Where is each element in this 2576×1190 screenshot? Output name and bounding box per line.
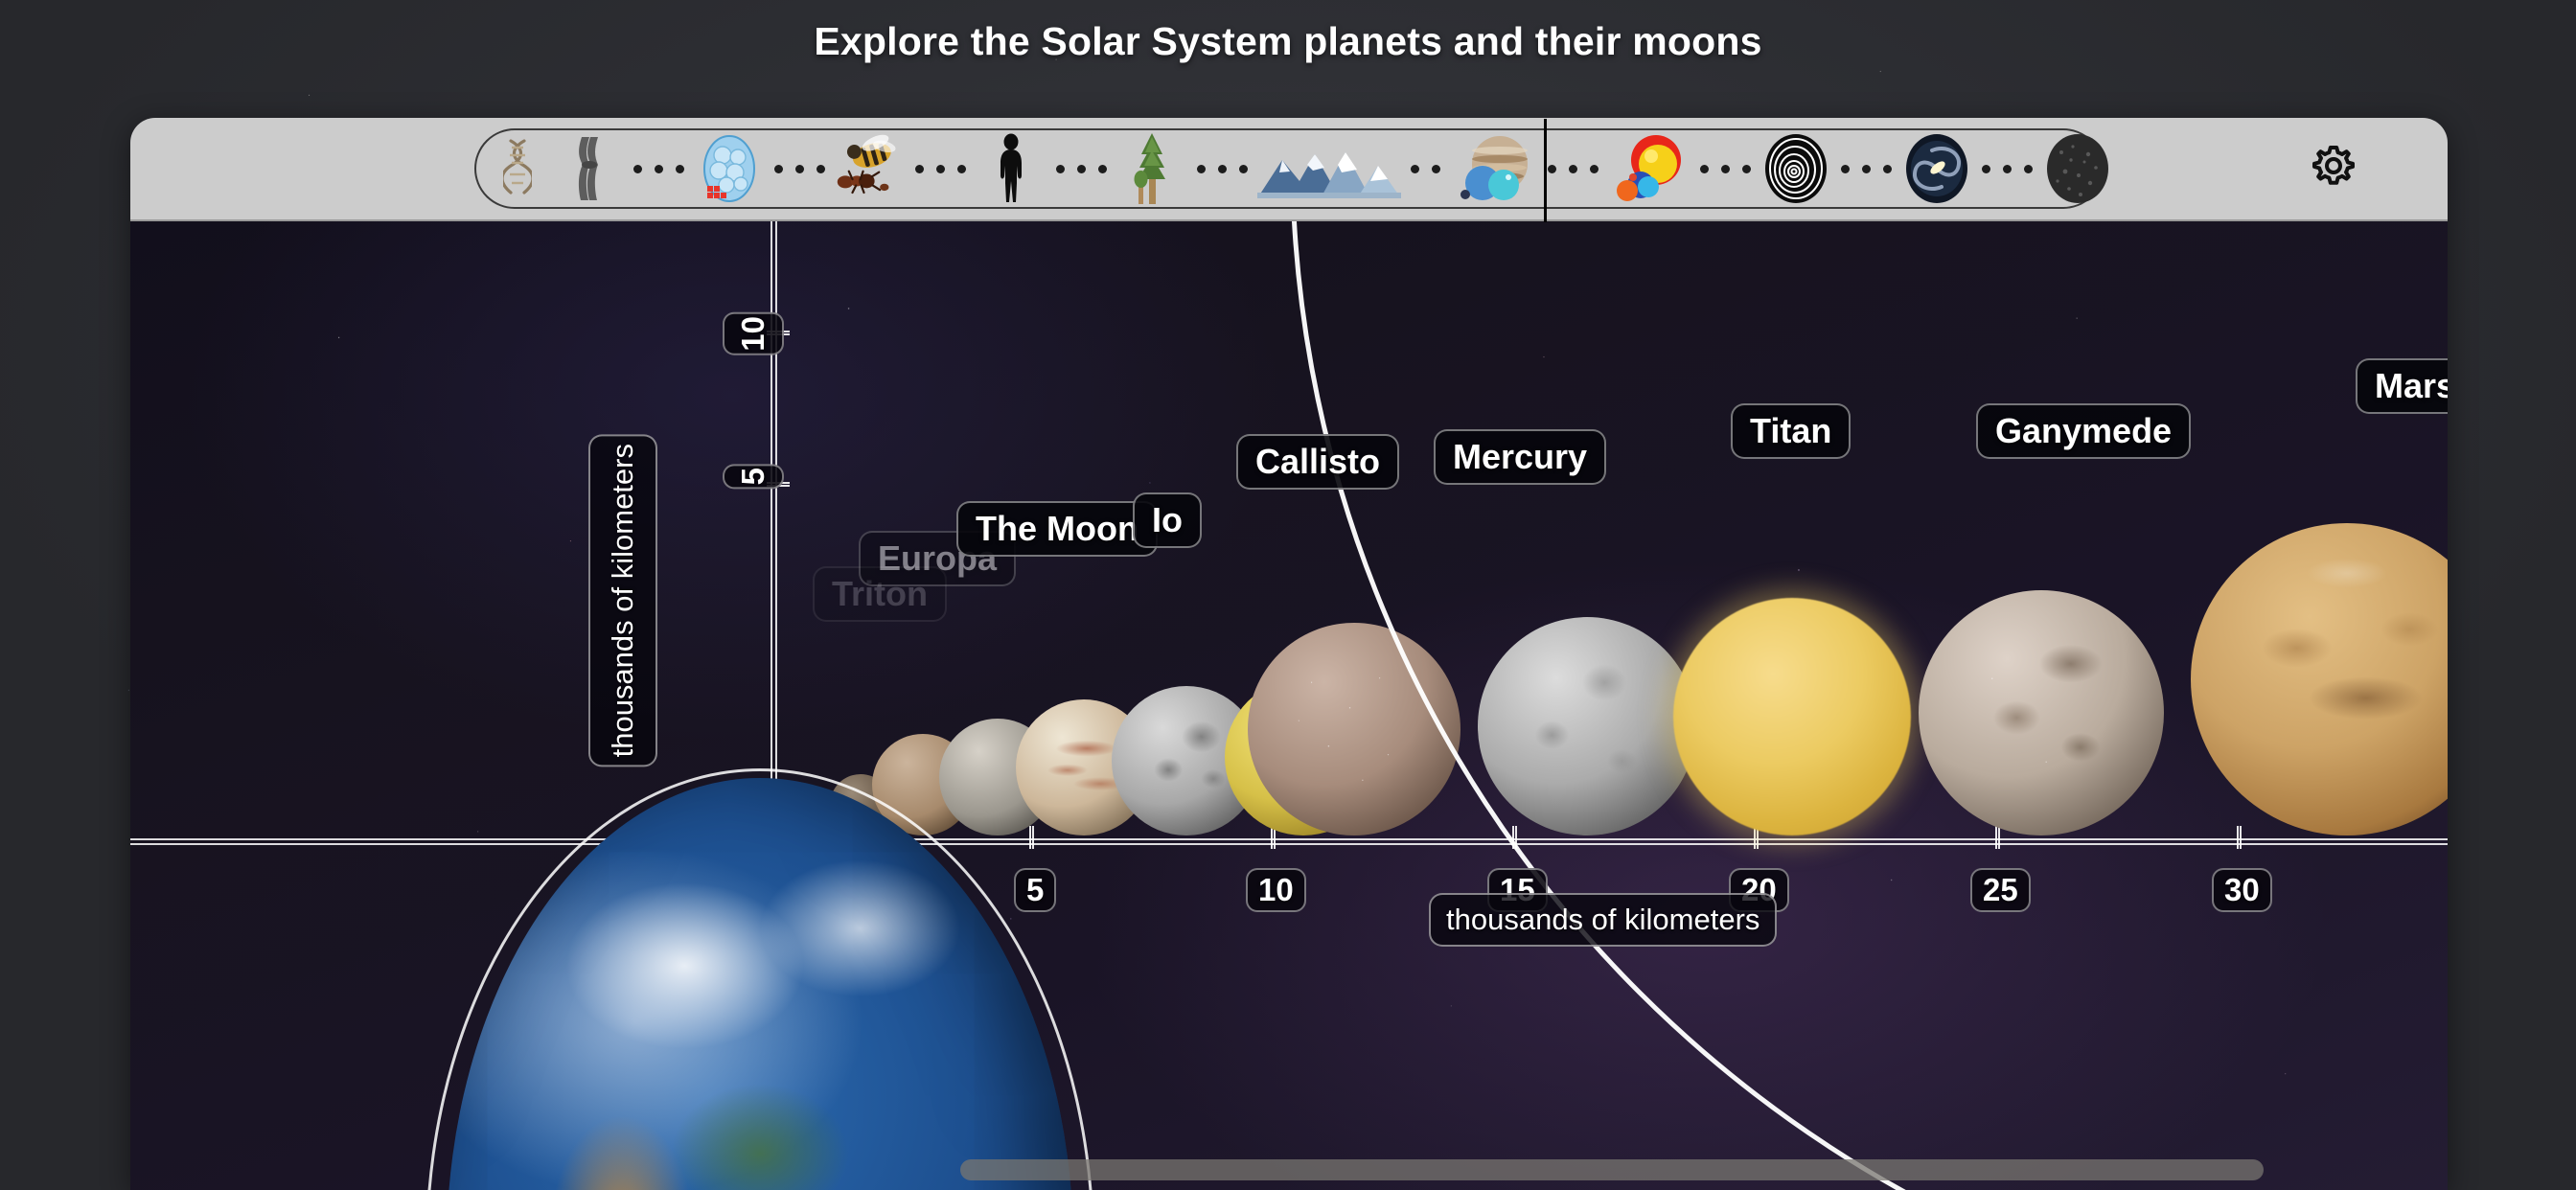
scale-step-tree[interactable] (1116, 130, 1187, 207)
page-title: Explore the Solar System planets and the… (0, 19, 2576, 64)
y-tick-label-5: 5 (723, 464, 784, 489)
x-tick-5 (1029, 826, 1034, 849)
scale-dots (624, 165, 694, 173)
scale-step-galaxy[interactable] (1901, 130, 1972, 207)
scale-step-chromosome[interactable] (553, 130, 624, 207)
scale-position-marker[interactable] (1544, 119, 1547, 222)
horizontal-scrollbar-thumb[interactable] (960, 1159, 2264, 1180)
scale-step-mountains[interactable] (1257, 130, 1401, 207)
y-axis-title: thousands of kilometers (588, 434, 657, 767)
insects-icon[interactable] (835, 133, 906, 204)
x-axis-line (130, 838, 2448, 845)
scale-step-planets[interactable] (1450, 130, 1538, 207)
scale-step-dna[interactable] (482, 130, 553, 207)
scale-step-universe[interactable] (2042, 130, 2113, 207)
dna-icon[interactable] (482, 133, 553, 204)
x-tick-30 (2237, 826, 2242, 849)
x-axis-title: thousands of kilometers (1429, 893, 1777, 947)
x-tick-label-30: 30 (2212, 868, 2272, 912)
x-tick-25 (1995, 826, 2000, 849)
horizontal-scrollbar[interactable] (130, 1159, 2448, 1180)
tree-icon[interactable] (1116, 133, 1187, 204)
label-callisto[interactable]: Callisto (1236, 434, 1399, 490)
body-ganymede[interactable] (1919, 590, 2164, 835)
scale-dots (1538, 165, 1608, 173)
scale-dots (1187, 165, 1257, 173)
scale-dots (906, 165, 976, 173)
x-tick-label-5: 5 (1014, 868, 1056, 912)
body-titan[interactable] (1673, 598, 1911, 835)
gear-icon[interactable] (2304, 139, 2363, 198)
body-mars[interactable] (2191, 523, 2448, 835)
scale-slider-track[interactable] (474, 128, 2104, 209)
scale-toolbar (130, 118, 2448, 221)
chromosome-icon[interactable] (553, 133, 624, 204)
galaxy-icon[interactable] (1901, 133, 1972, 204)
plot-area[interactable]: 10 5 5 10 15 20 25 30 thousands of kilom… (130, 221, 2448, 1190)
x-tick-15 (1512, 826, 1517, 849)
y-tick-label-10: 10 (723, 312, 784, 355)
scale-dots (765, 165, 835, 173)
star-cluster-icon[interactable] (1760, 133, 1831, 204)
label-io[interactable]: Io (1133, 492, 1202, 548)
universe-icon[interactable] (2042, 133, 2113, 204)
x-tick-label-10: 10 (1246, 868, 1306, 912)
body-mercury[interactable] (1478, 617, 1696, 835)
label-mars[interactable]: Mars (2356, 358, 2448, 414)
label-the-moon[interactable]: The Moon (956, 501, 1158, 557)
label-ganymede[interactable]: Ganymede (1976, 403, 2191, 459)
human-icon[interactable] (976, 133, 1046, 204)
x-tick-label-25: 25 (1970, 868, 2031, 912)
scale-dots (1401, 165, 1450, 173)
app-window: 10 5 5 10 15 20 25 30 thousands of kilom… (130, 118, 2448, 1190)
scale-step-cells[interactable] (694, 130, 765, 207)
stars-icon[interactable] (1608, 133, 1690, 204)
label-titan[interactable]: Titan (1731, 403, 1851, 459)
body-callisto[interactable] (1248, 623, 1460, 835)
planets-icon[interactable] (1450, 133, 1538, 204)
scale-step-insects[interactable] (835, 130, 906, 207)
scale-dots (1972, 165, 2042, 173)
scale-step-human[interactable] (976, 130, 1046, 207)
scale-dots (1690, 165, 1760, 173)
scale-step-stars[interactable] (1608, 130, 1690, 207)
label-mercury[interactable]: Mercury (1434, 429, 1606, 485)
cells-icon[interactable] (694, 133, 765, 204)
scale-step-star-cluster[interactable] (1760, 130, 1831, 207)
scale-dots (1831, 165, 1901, 173)
mountains-icon[interactable] (1257, 133, 1401, 204)
scale-dots (1046, 165, 1116, 173)
